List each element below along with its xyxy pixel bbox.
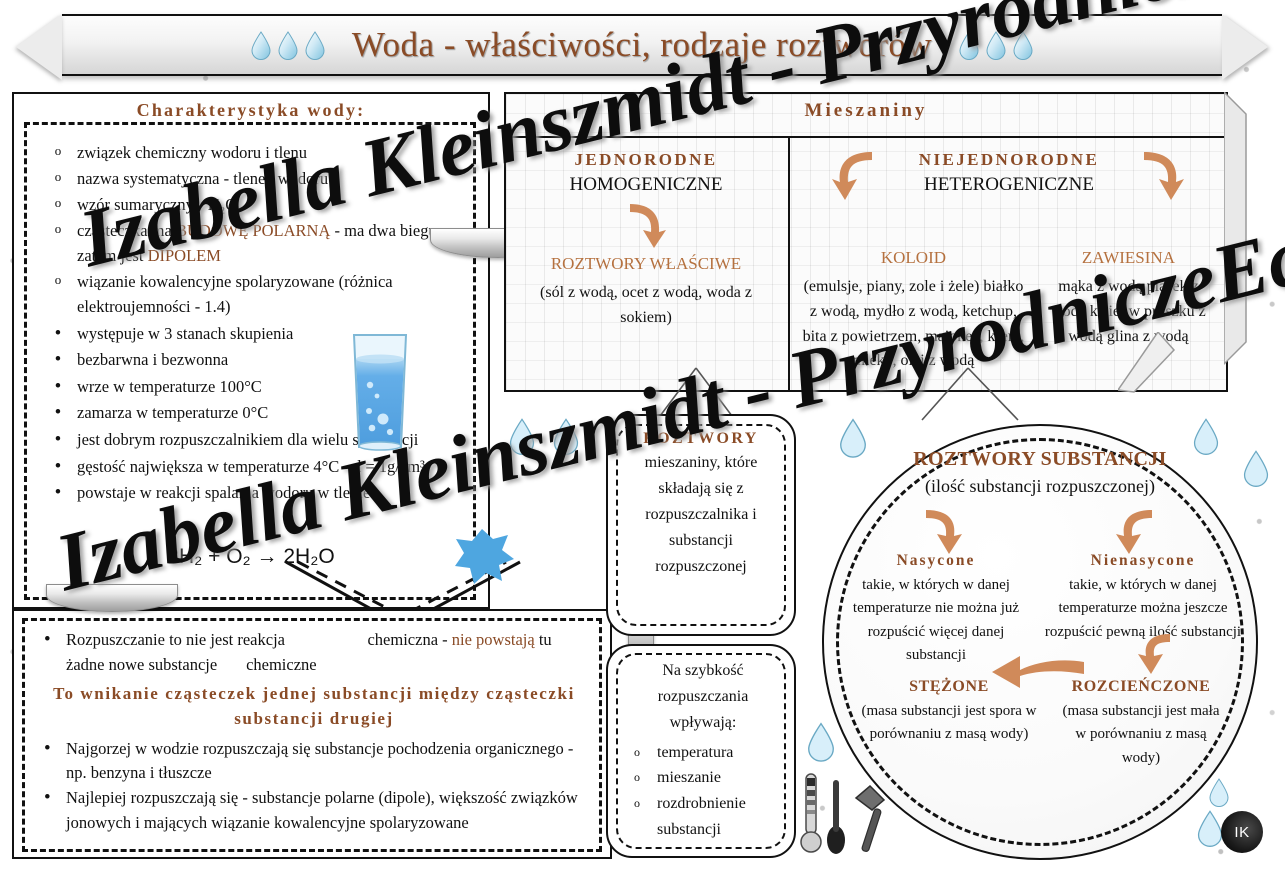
subtype-key-term: ZAWIESINA [1033,248,1224,268]
list-item-label: temperatura [657,740,733,766]
list-item-label: mieszanie [657,765,721,791]
list-marker: o [634,791,645,842]
curved-arrow-down-icon [1114,506,1160,558]
column-body: (sól z wodą, ocet z wodą, woda z sokiem) [510,281,782,331]
list-marker: o [52,269,64,319]
speed-title: Na szybkość rozpuszczania wpływają: [628,658,778,736]
list-item-label: bezbarwna i bezwonna [77,347,228,373]
branch-stezone: STĘŻONE (masa substancji jest spora w po… [856,678,1042,747]
list-marker: o [634,740,645,766]
thermometer-icon [800,772,822,856]
list-item: • Najlepiej rozpuszczają się - substancj… [44,786,584,836]
list-item: o cząsteczka ma BUDOWĘ POLARNĄ - ma dwa … [52,218,472,268]
list-marker: • [52,454,64,480]
list-marker: o [52,140,64,165]
solutions-body: mieszaniny, które składają się z rozpusz… [626,450,776,580]
list-item-label: cząsteczka ma BUDOWĘ POLARNĄ - ma dwa bi… [77,218,472,268]
dissolving-notes-content: • Rozpuszczanie to nie jest reakcja chem… [44,628,584,836]
column-heading: JEDNORODNE [510,150,782,170]
connector-lines [640,366,760,420]
water-drop-icon [985,31,1007,60]
list-item-label: gęstość największa w temperaturze 4°C - … [77,454,425,480]
subtype-koloid: KOLOID (emulsje, piany, zole i żele) bia… [794,248,1033,374]
branch-heading: Nasycone [836,552,1036,570]
water-drop-icon [277,31,299,60]
curved-arrow-down-icon [828,146,878,204]
curved-arrow-down-icon [624,200,668,252]
branch-heading: STĘŻONE [856,678,1042,696]
water-drop-icon [1012,31,1034,60]
page-fold-right-icon [1224,92,1260,392]
list-marker: • [44,786,54,836]
title-banner: Woda - właściwości, rodzaje roztworów [62,14,1222,76]
curved-arrow-down-icon [918,506,964,558]
list-marker: o [52,218,64,268]
connector-lines [906,366,1046,424]
subtype-body: (emulsje, piany, zole i żele) białko z w… [794,275,1033,374]
water-drop-icon [250,31,272,60]
list-item-label: Rozpuszczanie to nie jest reakcja chemic… [66,628,584,678]
list-item: o temperatura [634,740,778,766]
branch-rozcienczone: ROZCIEŃCZONE (masa substancji jest mała … [1046,678,1236,770]
list-marker: • [52,347,64,373]
list-item-label: zamarza w temperaturze 0°C [77,400,268,426]
page-title: Woda - właściwości, rodzaje roztworów [352,25,932,65]
list-marker: o [634,765,645,791]
author-badge: IK [1221,811,1263,853]
list-item: o nazwa systematyczna - tlenek wodoru [52,166,472,191]
subtype-key-term: KOLOID [794,248,1033,268]
column-subheading: HOMOGENICZNE [510,174,782,196]
list-marker: • [52,374,64,400]
list-item: o rozdrobnienie substancji [634,791,778,842]
circle-title: ROZTWORY SUBSTANCJI [822,448,1258,471]
list-item: o wiązanie kowalencyjne spolaryzowane (r… [52,269,472,319]
list-marker: • [52,400,64,426]
homogeneous-arrow-wrap [510,200,782,252]
panel-heading: Charakterystyka wody: [12,100,490,121]
page-fold-corner-icon [1118,332,1178,394]
water-characteristics-content: Charakterystyka wody: o związek chemiczn… [12,92,490,609]
list-marker: • [44,628,54,678]
list-item-label: nazwa systematyczna - tlenek wodoru [77,166,328,191]
curved-arrow-down-icon [1136,630,1176,678]
list-item: o wzór sumaryczny - H₂O [52,192,472,217]
dissolving-emphasis: To wnikanie cząsteczek jednej substancji… [44,681,584,732]
list-marker: o [52,192,64,217]
circle-subtitle: (ilość substancji rozpuszczonej) [822,476,1258,497]
mixtures-title: Mieszaniny [504,100,1228,122]
mixtures-divider-vertical [788,136,790,392]
list-marker: • [52,321,64,347]
water-drop-icon [552,418,580,460]
list-item-label: wiązanie kowalencyjne spolaryzowane (róż… [77,269,472,319]
branch-nasycone: Nasycone takie, w których w danej temper… [836,552,1036,667]
list-item-label: związek chemiczny wodoru i tlenu [77,140,307,165]
water-drop-icon [508,418,536,460]
list-item: • Rozpuszczanie to nie jest reakcja chem… [44,628,584,678]
list-marker: • [52,427,64,453]
glass-of-water-icon [348,333,412,456]
list-marker: • [52,480,64,506]
list-item-label: wrze w temperaturze 100°C [77,374,262,400]
branch-body: (masa substancji jest spora w porównaniu… [856,700,1042,747]
column-key-term: ROZTWORY WŁAŚCIWE [510,254,782,274]
list-item-label: Najgorzej w wodzie rozpuszczają się subs… [66,737,584,787]
speed-factor-list: o temperatura o mieszanie o rozdrobnieni… [628,740,778,842]
list-item-label: występuje w 3 stanach skupienia [77,321,293,347]
water-drop-icon [958,31,980,60]
water-drop-icon [304,31,326,60]
branch-body: (masa substancji jest mała w porównaniu … [1046,700,1236,770]
list-item: o mieszanie [634,765,778,791]
banner-left-arrow [16,14,62,80]
dissolution-speed-content: Na szybkość rozpuszczania wpływają: o te… [620,658,786,842]
ink-splat-icon [452,525,518,587]
list-marker: • [44,737,54,787]
solutions-definition-content: ROZTWORY mieszaniny, które składają się … [616,430,786,580]
solutions-title: ROZTWORY [626,430,776,448]
header-drops-left [250,31,326,60]
list-item-label: rozdrobnienie substancji [657,791,778,842]
list-item: • gęstość największa w temperaturze 4°C … [52,454,472,480]
list-item: o związek chemiczny wodoru i tlenu [52,140,472,165]
branch-heading: Nienasycone [1038,552,1248,570]
mixtures-column-homogeneous: JEDNORODNE HOMOGENICZNE ROZTWORY WŁAŚCIW… [510,150,782,331]
banner-right-arrow [1222,14,1268,80]
circle-content: ROZTWORY SUBSTANCJI (ilość substancji ro… [822,424,1258,860]
poster-sheet: Woda - właściwości, rodzaje roztworów Ch… [0,0,1285,869]
list-marker: o [52,166,64,191]
list-item: • Najgorzej w wodzie rozpuszczają się su… [44,737,584,787]
curved-arrow-down-icon [1138,146,1188,204]
list-item-label: powstaje w reakcji spalania wodoru w tle… [77,480,370,506]
list-item: • powstaje w reakcji spalania wodoru w t… [52,480,472,506]
mixtures-divider-horizontal [504,136,1228,138]
list-item-label: Najlepiej rozpuszczają się - substancje … [66,786,584,836]
header-drops-right [958,31,1034,60]
branch-heading: ROZCIEŃCZONE [1046,678,1236,696]
list-item-label: wzór sumaryczny - H₂O [77,192,237,217]
